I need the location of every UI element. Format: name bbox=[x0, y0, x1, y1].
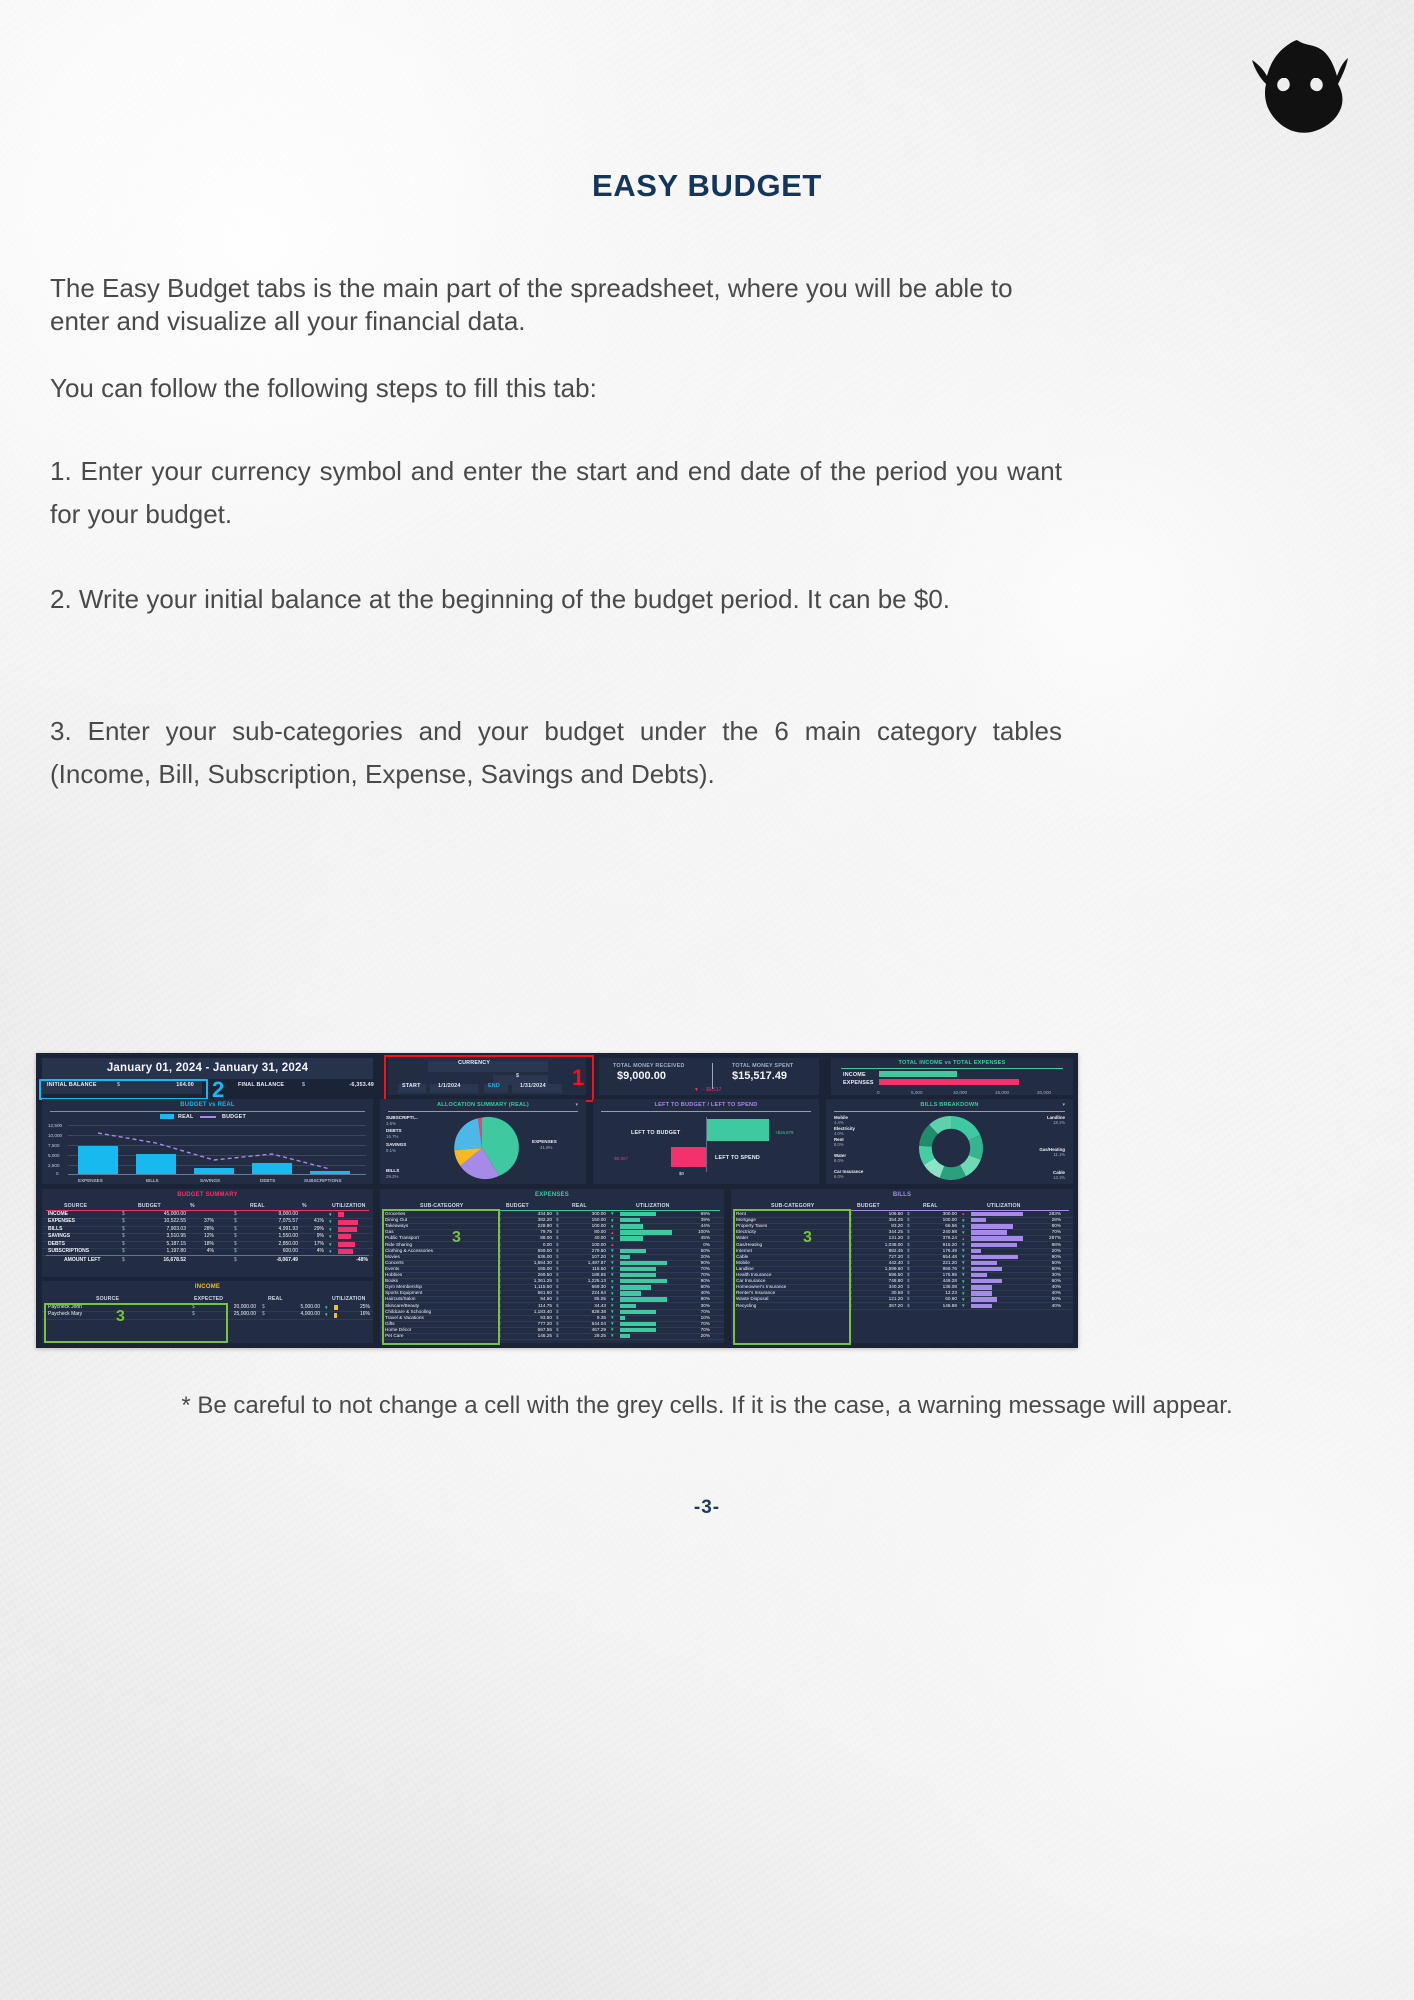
cat-utilization-bar bbox=[971, 1218, 986, 1222]
left-to-budget-panel: LEFT TO BUDGET / LEFT TO SPEND LEFT TO B… bbox=[593, 1099, 819, 1184]
bvr-cat-2: SAVINGS bbox=[200, 1176, 220, 1186]
bs-total-label: AMOUNT LEFT bbox=[64, 1256, 101, 1265]
step-2-paragraph: 2. Write your initial balance at the beg… bbox=[50, 578, 1062, 621]
left-to-budget-label: LEFT TO BUDGET bbox=[631, 1129, 680, 1139]
final-balance-cell: FINAL BALANCE $ -6,353.49 bbox=[236, 1081, 376, 1094]
budget-vs-real-title: BUDGET vs REAL bbox=[42, 1102, 373, 1108]
left-to-spend-label: LEFT TO SPEND bbox=[715, 1154, 760, 1164]
dashboard-screenshot: January 01, 2024 - January 31, 2024 INIT… bbox=[36, 1053, 1078, 1348]
bs-header-source: SOURCE bbox=[64, 1203, 87, 1209]
bvr-ytick-0: 12,500 bbox=[48, 1121, 62, 1131]
income-vs-expenses-panel: TOTAL INCOME vs TOTAL EXPENSES INCOME EX… bbox=[831, 1058, 1073, 1095]
bs-source: DEBTS bbox=[48, 1241, 65, 1248]
cat-utilization-bar bbox=[971, 1224, 1013, 1228]
cat-utilization-bar bbox=[620, 1249, 646, 1253]
cat-utilization-bar bbox=[971, 1249, 981, 1253]
cat-utilization-bar bbox=[620, 1285, 651, 1289]
page-title: EASY BUDGET bbox=[0, 168, 1414, 204]
ive-tick-4: 20,000 bbox=[1037, 1088, 1051, 1098]
ive-tick-3: 15,000 bbox=[995, 1088, 1009, 1098]
bb-pct-cable: 13.1% bbox=[1053, 1173, 1065, 1183]
inc-real: 4,000.00 bbox=[270, 1311, 320, 1318]
expenses-input-highlight bbox=[382, 1209, 500, 1345]
budget-vs-real-panel: BUDGET vs REAL REAL BUDGET 12,500 10,000… bbox=[42, 1099, 373, 1184]
bs-header-rpct: % bbox=[302, 1203, 307, 1209]
inc-utilization-bar bbox=[334, 1305, 338, 1310]
total-money-spent-value: $15,517.49 bbox=[732, 1072, 787, 1082]
bills-input-highlight bbox=[733, 1209, 851, 1345]
arrow-down-icon: ▼ bbox=[324, 1311, 329, 1318]
bs-real-pct: 29% bbox=[298, 1226, 324, 1233]
cat-util: 20% bbox=[676, 1333, 710, 1339]
cat-utilization-bar bbox=[620, 1224, 643, 1228]
arrow-down-icon: ▼ bbox=[328, 1241, 333, 1248]
bvr-ytick-5: 0 bbox=[56, 1169, 59, 1179]
arrow-down-icon: ▼ bbox=[328, 1218, 333, 1225]
annotation-marker-1: 1 bbox=[572, 1065, 584, 1091]
exp-header-budget: BUDGET bbox=[506, 1203, 529, 1209]
bs-source: EXPENSES bbox=[48, 1218, 75, 1225]
inc-header-source: SOURCE bbox=[96, 1296, 119, 1302]
legend-swatch-budget bbox=[200, 1116, 216, 1118]
cat-utilization-bar bbox=[971, 1297, 997, 1301]
alloc-pct-savings: 9.1% bbox=[386, 1146, 396, 1156]
cat-utilization-bar bbox=[971, 1243, 1017, 1247]
chevron-down-icon-bills[interactable]: ▾ bbox=[1062, 1101, 1065, 1111]
bvr-cat-3: DEBTS bbox=[260, 1176, 275, 1186]
cat-utilization-bar bbox=[620, 1261, 667, 1265]
inc-header-expected: EXPECTED bbox=[194, 1296, 223, 1302]
bs-budget-pct: 28% bbox=[188, 1226, 214, 1233]
cat-utilization-bar bbox=[620, 1310, 656, 1314]
cat-utilization-bar bbox=[620, 1304, 636, 1308]
steps-lead-paragraph: You can follow the following steps to fi… bbox=[50, 372, 1062, 405]
exp-header-real: REAL bbox=[572, 1203, 587, 1209]
budget-period-header: January 01, 2024 - January 31, 2024 bbox=[42, 1058, 373, 1079]
arrow-down-icon: ▼ bbox=[961, 1302, 966, 1309]
cat-utilization-bar bbox=[620, 1334, 630, 1338]
left-to-spend-value: -$8,067 bbox=[613, 1154, 628, 1164]
budget-summary-title: BUDGET SUMMARY bbox=[42, 1192, 373, 1198]
cat-utilization-bar bbox=[971, 1255, 1018, 1259]
bs-header-bpct: % bbox=[190, 1203, 195, 1209]
cat-utilization-bar bbox=[620, 1218, 640, 1222]
expenses-table-title: EXPENSES bbox=[380, 1192, 724, 1198]
bb-pct-car-insurance: 6.0% bbox=[834, 1172, 844, 1182]
bs-budget-pct: 37% bbox=[188, 1218, 214, 1225]
cat-real: 146.88 bbox=[913, 1303, 957, 1309]
cat-utilization-bar bbox=[620, 1255, 630, 1259]
alloc-pct-expenses: 41.5% bbox=[540, 1143, 552, 1153]
bs-budget-pct: 12% bbox=[188, 1233, 214, 1240]
bs-budget: 10,522.55 bbox=[134, 1218, 186, 1225]
allocation-pie-chart bbox=[434, 1115, 530, 1181]
cat-util: 40% bbox=[1027, 1303, 1061, 1309]
cat-utilization-bar bbox=[971, 1285, 992, 1289]
bs-real: 1,550.00 bbox=[246, 1233, 298, 1240]
legend-label-real: REAL bbox=[178, 1113, 193, 1123]
cat-utilization-bar bbox=[971, 1279, 1002, 1283]
budget-summary-panel: BUDGET SUMMARY SOURCE BUDGET % REAL % UT… bbox=[42, 1189, 373, 1277]
cat-utilization-bar bbox=[620, 1328, 656, 1332]
budget-vs-real-plot bbox=[68, 1125, 366, 1175]
bs-real: 7,075.57 bbox=[246, 1218, 298, 1225]
ive-bar-expenses bbox=[879, 1079, 1019, 1085]
bvr-cat-4: SUBSCRIPTIONS bbox=[304, 1176, 342, 1186]
exp-header-utilization: UTILIZATION bbox=[636, 1203, 670, 1209]
inc-util: 16% bbox=[342, 1311, 370, 1318]
chevron-down-icon[interactable]: ▾ bbox=[575, 1101, 578, 1111]
cat-utilization-bar bbox=[971, 1212, 1023, 1216]
bvr-cat-0: EXPENSES bbox=[78, 1176, 103, 1186]
bs-total-util: -48% bbox=[328, 1256, 368, 1265]
cat-utilization-bar bbox=[971, 1230, 1007, 1234]
bb-pct-gas: 11.1% bbox=[1053, 1150, 1065, 1160]
cat-utilization-bar bbox=[971, 1261, 997, 1265]
arrow-down-icon: ▼ bbox=[328, 1233, 333, 1240]
left-to-budget-bar bbox=[707, 1119, 769, 1141]
step-1-paragraph: 1. Enter your currency symbol and enter … bbox=[50, 450, 1062, 536]
left-to-zero-label: $0 bbox=[679, 1169, 684, 1179]
cat-utilization-bar bbox=[620, 1230, 672, 1234]
inc-utilization-bar bbox=[334, 1313, 337, 1318]
cat-utilization-bar bbox=[971, 1236, 1023, 1240]
cat-utilization-bar bbox=[620, 1316, 625, 1320]
bb-pct-landline: 18.1% bbox=[1053, 1118, 1065, 1128]
income-table-panel: INCOME SOURCE EXPECTED REAL UTILIZATION … bbox=[42, 1281, 373, 1343]
bs-source: SAVINGS bbox=[48, 1233, 70, 1240]
arrow-down-icon: ▼ bbox=[328, 1211, 333, 1218]
bs-total-budget: 16,678.52 bbox=[134, 1256, 186, 1265]
bs-source: INCOME bbox=[48, 1211, 68, 1218]
annotation-marker-3-expenses: 3 bbox=[452, 1229, 461, 1247]
bvr-ytick-1: 10,000 bbox=[48, 1131, 62, 1141]
inc-header-utilization: UTILIZATION bbox=[332, 1296, 366, 1302]
budget-period-label: January 01, 2024 - January 31, 2024 bbox=[42, 1058, 373, 1079]
bs-total-real: -8,067.49 bbox=[246, 1256, 298, 1265]
currency-panel-highlight bbox=[384, 1055, 594, 1102]
alloc-pct-bills: 29.2% bbox=[386, 1172, 398, 1182]
income-input-highlight bbox=[44, 1303, 228, 1343]
cat-budget: 146.25 bbox=[504, 1333, 552, 1339]
income-table-title: INCOME bbox=[42, 1284, 373, 1290]
bs-real: 4,991.93 bbox=[246, 1226, 298, 1233]
bs-real: 9,000.00 bbox=[246, 1211, 298, 1218]
cat-utilization-bar bbox=[971, 1273, 987, 1277]
arrow-down-icon: ▼ bbox=[610, 1332, 615, 1339]
page-number: -3- bbox=[0, 1497, 1414, 1519]
bill-header-real: REAL bbox=[923, 1203, 938, 1209]
cat-utilization-bar bbox=[620, 1267, 656, 1271]
cat-budget: 367.20 bbox=[855, 1303, 903, 1309]
kpi-delta-arrow-icon: ▼ bbox=[694, 1086, 699, 1096]
left-to-budget-title: LEFT TO BUDGET / LEFT TO SPEND bbox=[593, 1102, 819, 1108]
allocation-summary-title: ALLOCATION SUMMARY (REAL) bbox=[380, 1102, 586, 1108]
bs-real-pct: 9% bbox=[298, 1233, 324, 1240]
bs-real-pct: 41% bbox=[298, 1218, 324, 1225]
wolf-logo bbox=[1242, 36, 1352, 136]
inc-real: 5,000.00 bbox=[270, 1304, 320, 1311]
bb-pct-rent: 8.0% bbox=[834, 1140, 844, 1150]
income-vs-expenses-title: TOTAL INCOME vs TOTAL EXPENSES bbox=[831, 1060, 1073, 1066]
cat-utilization-bar bbox=[620, 1273, 656, 1277]
bills-donut-chart bbox=[914, 1116, 988, 1180]
bb-pct-water: 6.0% bbox=[834, 1156, 844, 1166]
bs-budget: 7,903.03 bbox=[134, 1226, 186, 1233]
left-to-budget-value: +$16,679 bbox=[775, 1128, 793, 1138]
allocation-summary-panel: ALLOCATION SUMMARY (REAL) ▾ SUBSCRIPTI..… bbox=[380, 1099, 586, 1184]
annotation-marker-3-income: 3 bbox=[116, 1308, 125, 1326]
legend-label-budget: BUDGET bbox=[222, 1113, 246, 1123]
cat-utilization-bar bbox=[620, 1279, 667, 1283]
arrow-down-icon: ▼ bbox=[324, 1304, 329, 1311]
step-3-paragraph: 3. Enter your sub-categories and your bu… bbox=[50, 710, 1062, 796]
bs-budget: 5,187.15 bbox=[134, 1241, 186, 1248]
ive-tick-1: 5,000 bbox=[911, 1088, 923, 1098]
cat-real: 29.25 bbox=[562, 1333, 606, 1339]
left-to-spend-bar bbox=[671, 1147, 706, 1167]
bills-table-panel: BILLS SUB-CATEGORY BUDGET REAL UTILIZATI… bbox=[731, 1189, 1073, 1343]
intro-paragraph: The Easy Budget tabs is the main part of… bbox=[50, 272, 1062, 338]
bvr-ytick-2: 7,500 bbox=[48, 1141, 60, 1151]
bills-breakdown-panel: BILLS BREAKDOWN ▾ Landline 18.1% Gas/Hea… bbox=[826, 1099, 1073, 1184]
bs-header-real: REAL bbox=[250, 1203, 265, 1209]
bill-header-budget: BUDGET bbox=[857, 1203, 880, 1209]
final-balance-label: FINAL BALANCE bbox=[238, 1081, 284, 1091]
bs-budget-pct: 18% bbox=[188, 1241, 214, 1248]
bs-header-budget: BUDGET bbox=[138, 1203, 161, 1209]
ive-tick-2: 10,000 bbox=[953, 1088, 967, 1098]
bills-breakdown-title: BILLS BREAKDOWN bbox=[826, 1102, 1073, 1108]
bvr-ytick-3: 5,000 bbox=[48, 1151, 60, 1161]
expenses-table-panel: EXPENSES SUB-CATEGORY BUDGET REAL UTILIZ… bbox=[380, 1189, 724, 1343]
footnote: * Be careful to not change a cell with t… bbox=[0, 1390, 1414, 1422]
inc-util: 25% bbox=[342, 1304, 370, 1311]
cat-utilization-bar bbox=[620, 1236, 643, 1240]
bs-source: BILLS bbox=[48, 1226, 62, 1233]
bs-budget: 45,000.00 bbox=[134, 1211, 186, 1218]
bs-budget: 3,510.95 bbox=[134, 1233, 186, 1240]
ive-bar-income bbox=[879, 1071, 957, 1077]
cat-utilization-bar bbox=[971, 1304, 992, 1308]
cat-utilization-bar bbox=[620, 1291, 641, 1295]
cat-utilization-bar bbox=[620, 1297, 667, 1301]
total-money-received-value: $9,000.00 bbox=[617, 1072, 666, 1082]
bs-header-utilization: UTILIZATION bbox=[332, 1203, 366, 1209]
final-balance-value: -6,353.49 bbox=[322, 1081, 374, 1091]
cat-utilization-bar bbox=[971, 1291, 992, 1295]
cat-utilization-bar bbox=[971, 1267, 1002, 1271]
annotation-marker-3-bills: 3 bbox=[803, 1229, 812, 1247]
arrow-down-icon: ▼ bbox=[328, 1226, 333, 1233]
cat-utilization-bar bbox=[620, 1322, 656, 1326]
cat-utilization-bar bbox=[620, 1212, 656, 1216]
final-balance-symbol: $ bbox=[302, 1081, 305, 1091]
budget-summary-total-row: AMOUNT LEFT $ 16,678.52 $ -8,067.49 -48% bbox=[42, 1256, 373, 1265]
bills-table-title: BILLS bbox=[731, 1192, 1073, 1198]
legend-swatch-real bbox=[160, 1114, 174, 1119]
bs-real-pct: 17% bbox=[298, 1241, 324, 1248]
bill-header-utilization: UTILIZATION bbox=[987, 1203, 1021, 1209]
inc-header-real: REAL bbox=[268, 1296, 283, 1302]
bvr-cat-1: BILLS bbox=[146, 1176, 159, 1186]
kpi-panel: TOTAL MONEY RECEIVED $9,000.00 TOTAL MON… bbox=[599, 1058, 819, 1095]
kpi-delta-value: - $6,517 bbox=[703, 1086, 721, 1096]
initial-balance-highlight bbox=[39, 1079, 208, 1100]
ive-tick-0: 0 bbox=[877, 1088, 880, 1098]
ive-row-label-expenses: EXPENSES bbox=[843, 1079, 874, 1089]
bs-real: 2,850.00 bbox=[246, 1241, 298, 1248]
